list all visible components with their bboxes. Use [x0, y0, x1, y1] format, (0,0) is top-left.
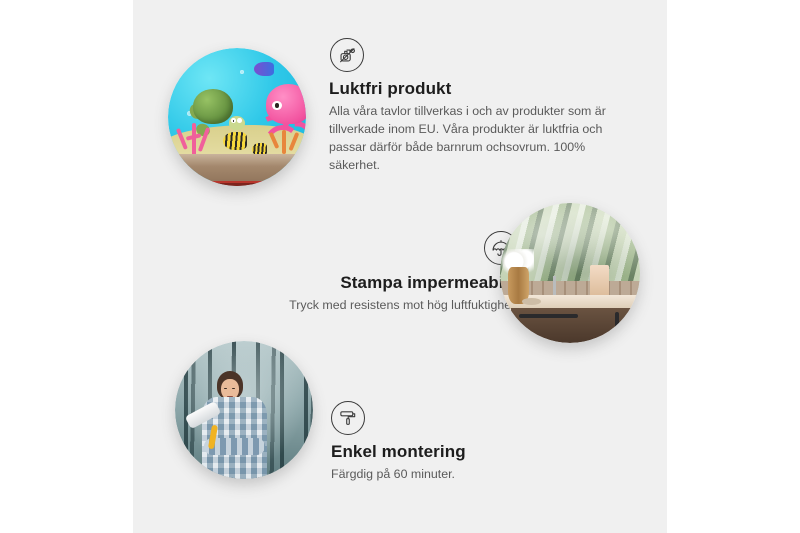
feature-block-odourless: Luktfri produkt Alla våra tavlor tillver…: [329, 38, 637, 175]
woman-figure: [192, 371, 278, 479]
feature-block-assembly: Enkel montering Färgdig på 60 minuter.: [331, 401, 621, 484]
waterproof-icon-wrap: [208, 231, 518, 265]
decorator-woman-forest-mural-photo: [175, 341, 313, 479]
feature-title: Luktfri produkt: [329, 79, 637, 99]
room-floor: [168, 154, 306, 186]
odourless-icon-wrap: [329, 38, 637, 72]
octopus-eye: [272, 101, 282, 111]
assembly-icon-wrap: [331, 401, 621, 435]
feature-description: Tryck med resistens mot hög luftfuktighe…: [208, 297, 518, 315]
woman-eye: [232, 388, 234, 390]
paint-roller-icon: [331, 401, 365, 435]
woman-eye: [224, 388, 226, 390]
wooden-vanity: [511, 308, 640, 343]
feature-panel: Luktfri produkt Alla våra tavlor tillver…: [133, 0, 667, 533]
feature-block-waterproof: Stampa impermeabile Tryck med resistens …: [208, 231, 518, 315]
sofa: [204, 181, 267, 186]
feature-description: Alla våra tavlor tillverkas i och av pro…: [329, 103, 637, 175]
forest-photo-inner: [175, 341, 313, 479]
screenshot-root: Luktfri produkt Alla våra tavlor tillver…: [0, 0, 800, 533]
feature-title: Stampa impermeabile: [208, 273, 518, 293]
coral-illustration: [267, 121, 303, 154]
turtle-eye: [233, 120, 235, 122]
underwater-sea-creatures-mural-photo: [168, 48, 306, 186]
bath-photo-inner: [500, 203, 640, 343]
fish-illustration: [223, 132, 246, 150]
turtle-head: [229, 116, 246, 130]
octopus-head: [266, 84, 306, 124]
fish-illustration: [254, 62, 275, 76]
feature-description: Färgdig på 60 minuter.: [331, 466, 621, 484]
turtle-eye: [238, 120, 240, 122]
feature-title: Enkel montering: [331, 442, 621, 462]
soap-dish: [522, 298, 540, 305]
sea-photo-inner: [168, 48, 306, 186]
bathroom-botanical-wallpaper-photo: [500, 203, 640, 343]
no-odour-spray-bottle-icon: [330, 38, 364, 72]
coral-illustration: [174, 114, 215, 155]
bubble-icon: [240, 70, 244, 74]
